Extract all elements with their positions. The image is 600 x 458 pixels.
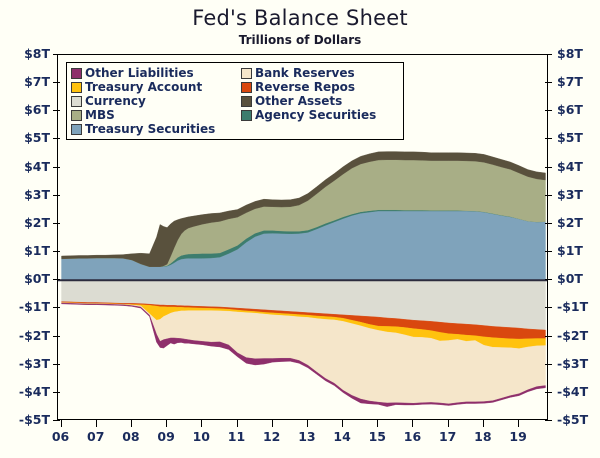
legend-color-swatch xyxy=(71,82,82,93)
x-axis-tick xyxy=(96,420,97,427)
x-axis-tick-label: 19 xyxy=(503,429,533,444)
y-axis-tick-right xyxy=(545,307,552,308)
y-axis-tick-label-left: $5T xyxy=(2,130,50,145)
y-axis-tick-left xyxy=(53,307,60,308)
x-axis-tick-label: 18 xyxy=(468,429,498,444)
y-axis-tick-left xyxy=(53,138,60,139)
legend-item[interactable]: Agency Securities xyxy=(241,108,399,122)
y-axis-tick-right xyxy=(545,110,552,111)
y-axis-tick-left xyxy=(53,279,60,280)
y-axis-tick-right xyxy=(545,420,552,421)
x-axis-tick-label: 15 xyxy=(362,429,392,444)
y-axis-tick-label-left: $7T xyxy=(2,74,50,89)
x-axis-tick-label: 16 xyxy=(397,429,427,444)
y-axis-tick-right xyxy=(545,336,552,337)
y-axis-tick-left xyxy=(53,364,60,365)
legend-item[interactable]: Reverse Repos xyxy=(241,80,399,94)
x-axis-tick xyxy=(518,420,519,427)
y-axis-tick-label-right: -$5T xyxy=(557,412,588,427)
x-axis-tick xyxy=(307,420,308,427)
y-axis-tick-right xyxy=(545,54,552,55)
y-axis-tick-right xyxy=(545,138,552,139)
legend-item[interactable]: Other Assets xyxy=(241,94,399,108)
chart-subtitle: Trillions of Dollars xyxy=(0,33,600,47)
y-axis-tick-right xyxy=(545,82,552,83)
legend-color-swatch xyxy=(241,110,252,121)
y-axis-tick-left xyxy=(53,82,60,83)
y-axis-tick-left xyxy=(53,392,60,393)
y-axis-tick-label-right: $4T xyxy=(557,159,583,174)
y-axis-tick-left xyxy=(53,54,60,55)
x-axis-tick-label: 17 xyxy=(433,429,463,444)
y-axis-tick-left xyxy=(53,420,60,421)
legend-item-label: MBS xyxy=(85,108,115,122)
legend-item[interactable]: MBS xyxy=(71,108,241,122)
y-axis-tick-label-right: $2T xyxy=(557,215,583,230)
y-axis-tick-label-right: $7T xyxy=(557,74,583,89)
y-axis-tick-label-right: -$2T xyxy=(557,328,588,343)
y-axis-tick-right xyxy=(545,364,552,365)
y-axis-tick-left xyxy=(53,110,60,111)
legend-item[interactable]: Treasury Account xyxy=(71,80,241,94)
y-axis-tick-right xyxy=(545,195,552,196)
x-axis-tick xyxy=(448,420,449,427)
y-axis-tick-label-right: $0T xyxy=(557,271,583,286)
x-axis-tick xyxy=(237,420,238,427)
x-axis-tick xyxy=(61,420,62,427)
y-axis-tick-label-left: $3T xyxy=(2,187,50,202)
legend-color-swatch xyxy=(241,68,252,79)
chart-legend: Other LiabilitiesBank ReservesTreasury A… xyxy=(66,62,404,140)
legend-item-label: Other Liabilities xyxy=(85,66,194,80)
y-axis-tick-label-left: -$5T xyxy=(2,412,50,427)
legend-item[interactable]: Treasury Securities xyxy=(71,122,241,136)
legend-item-label: Reverse Repos xyxy=(255,80,355,94)
legend-color-swatch xyxy=(241,96,252,107)
chart-title: Fed's Balance Sheet xyxy=(0,6,600,30)
y-axis-tick-label-right: $5T xyxy=(557,130,583,145)
y-axis-tick-label-left: $8T xyxy=(2,46,50,61)
legend-item-label: Treasury Account xyxy=(85,80,202,94)
x-axis-tick-label: 09 xyxy=(151,429,181,444)
legend-item-label: Currency xyxy=(85,94,146,108)
x-axis-tick-label: 10 xyxy=(186,429,216,444)
x-axis-tick-label: 08 xyxy=(116,429,146,444)
y-axis-tick-left xyxy=(53,336,60,337)
y-axis-tick-label-right: -$4T xyxy=(557,384,588,399)
y-axis-tick-label-left: $4T xyxy=(2,159,50,174)
legend-item-label: Other Assets xyxy=(255,94,342,108)
legend-item[interactable]: Currency xyxy=(71,94,241,108)
legend-color-swatch xyxy=(71,68,82,79)
y-axis-tick-label-left: -$4T xyxy=(2,384,50,399)
legend-color-swatch xyxy=(71,96,82,107)
legend-color-swatch xyxy=(241,82,252,93)
legend-item-label: Treasury Securities xyxy=(85,122,215,136)
x-axis-tick xyxy=(166,420,167,427)
y-axis-tick-left xyxy=(53,251,60,252)
y-axis-tick-right xyxy=(545,392,552,393)
y-axis-tick-label-left: -$1T xyxy=(2,299,50,314)
y-axis-tick-label-left: -$2T xyxy=(2,328,50,343)
x-axis-tick xyxy=(201,420,202,427)
y-axis-tick-label-left: $6T xyxy=(2,102,50,117)
y-axis-tick-label-left: $0T xyxy=(2,271,50,286)
x-axis-tick xyxy=(131,420,132,427)
x-axis-tick xyxy=(483,420,484,427)
x-axis-tick-label: 13 xyxy=(292,429,322,444)
legend-color-swatch xyxy=(71,110,82,121)
legend-item-label: Agency Securities xyxy=(255,108,376,122)
legend-item-label: Bank Reserves xyxy=(255,66,355,80)
y-axis-tick-left xyxy=(53,223,60,224)
y-axis-tick-label-left: $1T xyxy=(2,243,50,258)
x-axis-tick-label: 11 xyxy=(222,429,252,444)
x-axis-tick-label: 06 xyxy=(46,429,76,444)
y-axis-tick-right xyxy=(545,251,552,252)
x-axis-tick-label: 14 xyxy=(327,429,357,444)
legend-item[interactable]: Other Liabilities xyxy=(71,66,241,80)
x-axis-tick xyxy=(412,420,413,427)
x-axis-tick xyxy=(272,420,273,427)
x-axis-tick-label: 07 xyxy=(81,429,111,444)
y-axis-tick-label-right: -$3T xyxy=(557,356,588,371)
x-axis-tick xyxy=(377,420,378,427)
y-axis-tick-right xyxy=(545,167,552,168)
y-axis-tick-label-left: $2T xyxy=(2,215,50,230)
y-axis-tick-left xyxy=(53,195,60,196)
y-axis-tick-right xyxy=(545,223,552,224)
x-axis-tick xyxy=(342,420,343,427)
y-axis-tick-label-right: -$1T xyxy=(557,299,588,314)
y-axis-tick-label-right: $3T xyxy=(557,187,583,202)
y-axis-tick-label-left: -$3T xyxy=(2,356,50,371)
x-axis-tick-label: 12 xyxy=(257,429,287,444)
y-axis-tick-label-right: $1T xyxy=(557,243,583,258)
y-axis-tick-right xyxy=(545,279,552,280)
legend-color-swatch xyxy=(71,124,82,135)
y-axis-tick-label-right: $6T xyxy=(557,102,583,117)
chart-container: Fed's Balance Sheet Trillions of Dollars… xyxy=(0,0,600,458)
legend-item[interactable]: Bank Reserves xyxy=(241,66,399,80)
y-axis-tick-label-right: $8T xyxy=(557,46,583,61)
y-axis-tick-left xyxy=(53,167,60,168)
